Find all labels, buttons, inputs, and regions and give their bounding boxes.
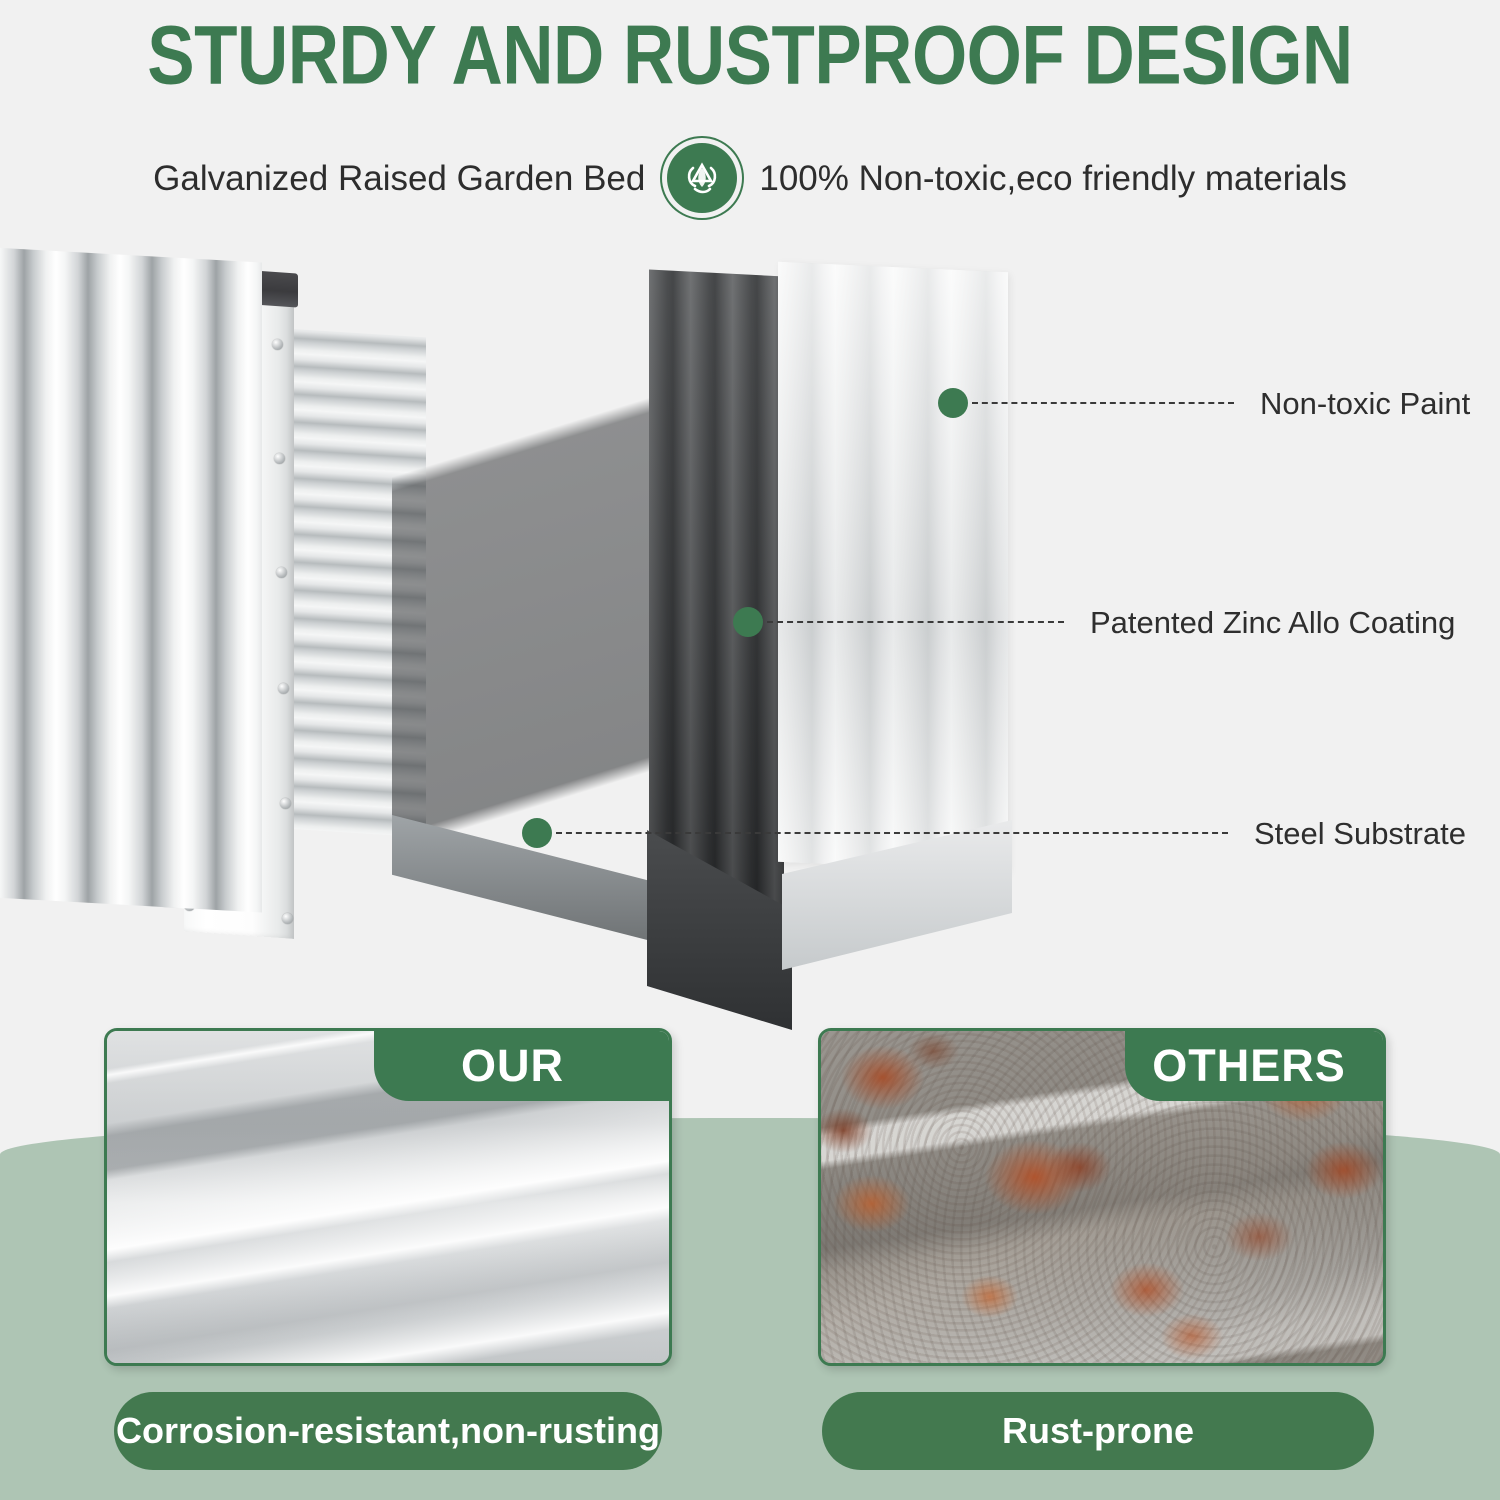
screw-icon [282,913,293,924]
caption-pill-our: Corrosion-resistant,non-rusting [114,1392,662,1470]
corrugated-wall-second [288,329,426,838]
callout-leader-line [972,402,1234,404]
screw-icon [272,339,283,350]
screw-icon [276,567,287,578]
layer-marker-dot [733,607,763,637]
callout-label: Steel Substrate [1254,818,1466,849]
comparison-card-our: OUR [104,1028,672,1366]
callout-zinc-coating: Patented Zinc Allo Coating [733,607,1455,637]
card-tab-others: OTHERS [1125,1031,1383,1101]
screw-icon [278,683,289,694]
subtitle-row: Galvanized Raised Garden Bed 100% Non-to… [0,143,1500,213]
layer-marker-dot [938,388,968,418]
product-exploded-illustration [0,255,1052,955]
card-tab-our: OUR [374,1031,669,1101]
comparison-card-others: OTHERS [818,1028,1386,1366]
screw-icon [280,798,291,809]
page-title: STURDY AND RUSTPROOF DESIGN [0,8,1500,104]
layer-marker-dot [522,818,552,848]
callout-leader-line [767,621,1064,623]
subtitle-left: Galvanized Raised Garden Bed [153,161,645,196]
layer-steel-substrate [778,262,1008,872]
callout-label: Non-toxic Paint [1260,388,1470,419]
callout-non-toxic-paint: Non-toxic Paint [938,388,1470,418]
callout-steel-substrate: Steel Substrate [522,818,1466,848]
screw-icon [274,453,285,464]
callout-label: Patented Zinc Allo Coating [1090,607,1455,638]
caption-pill-others: Rust-prone [822,1392,1374,1470]
callout-leader-line [556,832,1228,834]
recycle-leaf-icon [667,143,737,213]
layer-outer-paint [0,247,262,912]
infographic-stage: STURDY AND RUSTPROOF DESIGN Galvanized R… [0,0,1500,1500]
subtitle-right: 100% Non-toxic,eco friendly materials [759,161,1346,196]
